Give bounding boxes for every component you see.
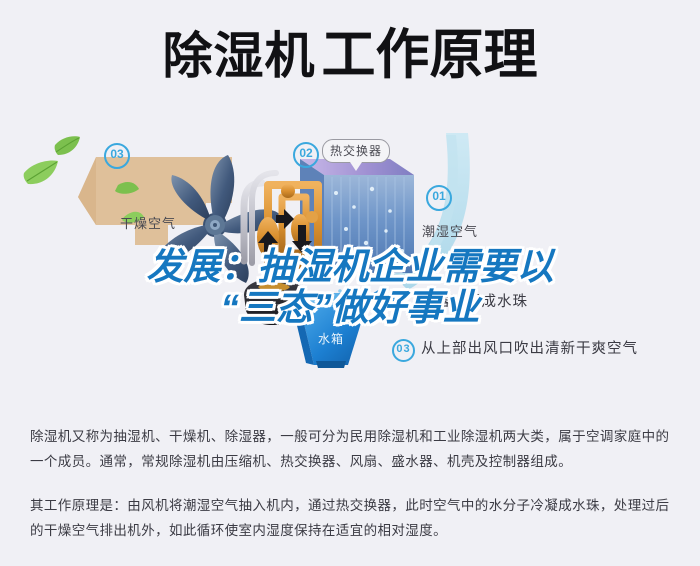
body-paragraph-1: 除湿机又称为抽湿机、干燥机、除湿器，一般可分为民用除湿机和工业除湿机两大类，属于…: [30, 424, 676, 474]
callout-heat-exchanger-label: 热交换器: [330, 144, 382, 158]
badge-step-01-humidair: 01: [426, 185, 452, 211]
dehumidifier-principle-diagram: 03 干燥空气 02 热交换器 01 潮湿空气 水箱 器冷凝成水珠 03从上部出…: [0, 125, 700, 405]
title-prefix: 除湿机: [163, 31, 316, 81]
body-paragraph-2: 其工作原理是：由风机将潮湿空气抽入机内，通过热交换器，此时空气中的水分子冷凝成水…: [30, 493, 676, 543]
label-humid-air: 潮湿空气: [422, 221, 478, 240]
title-main: 工作原理: [322, 28, 538, 82]
label-dry-air: 干燥空气: [120, 213, 176, 232]
badge-step-02-heatexchanger: 02: [293, 142, 319, 168]
label-water-tank: 水箱: [318, 330, 344, 347]
callout-tail: [350, 162, 362, 171]
badge-step-03-outlet: 03: [392, 339, 415, 362]
article-body: 除湿机又称为抽湿机、干燥机、除湿器，一般可分为民用除湿机和工业除湿机两大类，属于…: [30, 424, 676, 543]
callout-heat-exchanger: 热交换器: [322, 139, 390, 163]
step-text-outlet: 03从上部出风口吹出清新干爽空气: [392, 337, 638, 362]
step-text-condense: 器冷凝成水珠: [435, 290, 528, 311]
badge-step-03-dryair: 03: [104, 143, 130, 169]
article-image-canvas: 除湿机工作原理: [0, 0, 700, 566]
step-text-outlet-label: 从上部出风口吹出清新干爽空气: [421, 341, 638, 357]
page-title: 除湿机工作原理: [0, 28, 700, 82]
